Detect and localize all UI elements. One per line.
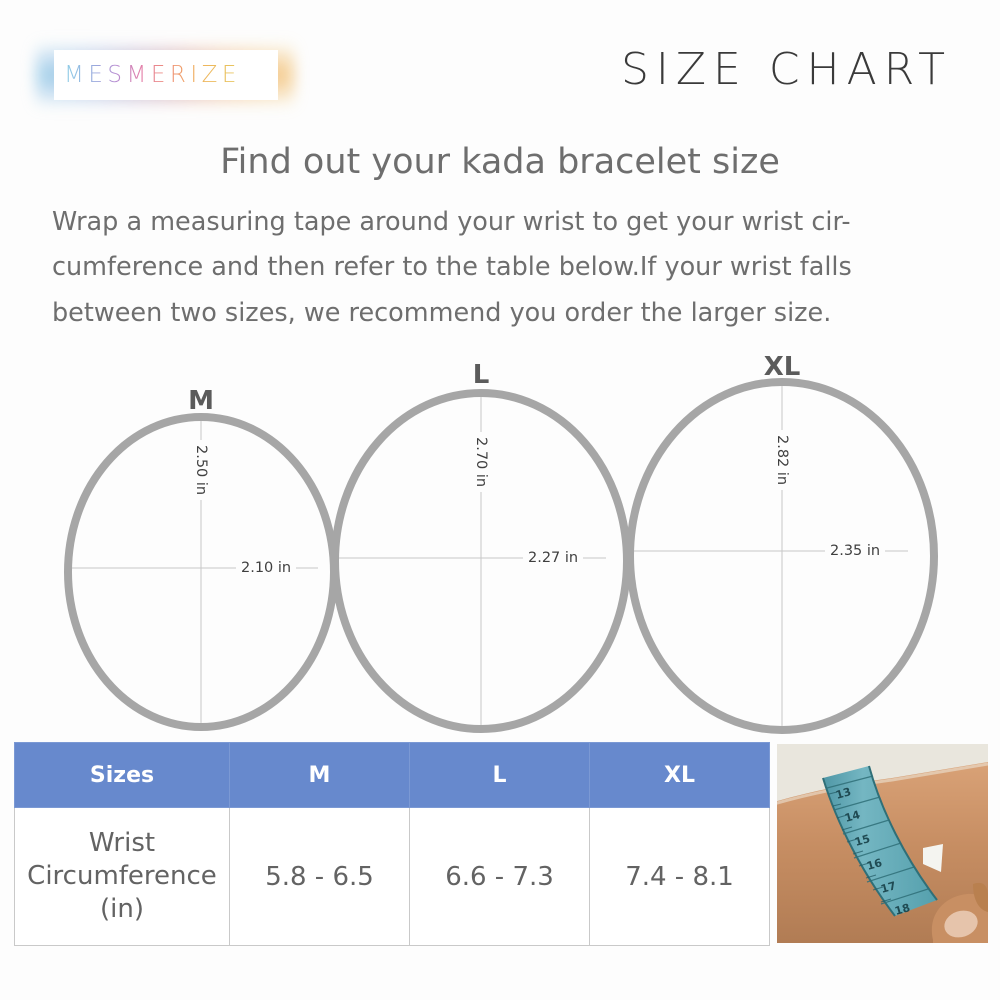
oval-label-xl: XL: [764, 352, 801, 382]
page-title: SIZE CHART: [621, 44, 952, 95]
row-label-line-3: (in): [16, 893, 228, 926]
headline: Find out your kada bracelet size: [0, 142, 1000, 182]
oval-height-m: 2.50 in: [193, 440, 209, 500]
intro-line-2: cumference and then refer to the table b…: [52, 245, 955, 290]
oval-width-xl: 2.35 in: [825, 543, 885, 559]
intro-line-3: between two sizes, we recommend you orde…: [52, 291, 955, 336]
header-cell-m: M: [230, 743, 410, 808]
size-table-head: Sizes M L XL: [15, 743, 770, 808]
header-cell-l: L: [410, 743, 590, 808]
intro-paragraph: Wrap a measuring tape around your wrist …: [52, 200, 955, 336]
oval-height-l: 2.70 in: [473, 432, 489, 492]
logo-text: MESMERIZE: [64, 62, 241, 88]
row-label-line-2: Circumference: [16, 860, 228, 893]
header-cell-xl: XL: [590, 743, 770, 808]
oval-height-xl: 2.82 in: [774, 430, 790, 490]
cell-wrist-m: 5.8 - 6.5: [230, 808, 410, 946]
oval-xl: [630, 382, 934, 730]
table-header-row: Sizes M L XL: [15, 743, 770, 808]
cell-wrist-xl: 7.4 - 8.1: [590, 808, 770, 946]
wrist-photo-illustration: 13 14 15 16 17 18: [777, 744, 988, 943]
oval-label-m: M: [188, 386, 214, 416]
oval-l: [335, 393, 627, 729]
intro-line-1: Wrap a measuring tape around your wrist …: [52, 200, 955, 245]
row-label-wrist-circumference: Wrist Circumference (in): [15, 808, 230, 946]
oval-width-l: 2.27 in: [523, 550, 583, 566]
cell-wrist-l: 6.6 - 7.3: [410, 808, 590, 946]
oval-width-m: 2.10 in: [236, 560, 296, 576]
oval-m: [68, 417, 334, 727]
row-label-line-1: Wrist: [16, 827, 228, 860]
wrist-measuring-photo: 13 14 15 16 17 18: [777, 744, 988, 943]
oval-label-l: L: [473, 360, 490, 390]
header-cell-sizes: Sizes: [15, 743, 230, 808]
brand-logo: MESMERIZE: [46, 44, 284, 106]
size-table-body: Wrist Circumference (in) 5.8 - 6.5 6.6 -…: [15, 808, 770, 946]
size-table: Sizes M L XL Wrist Circumference (in) 5.…: [14, 742, 770, 946]
size-chart-page: MESMERIZE SIZE CHART Find out your kada …: [0, 0, 1000, 1000]
table-row: Wrist Circumference (in) 5.8 - 6.5 6.6 -…: [15, 808, 770, 946]
